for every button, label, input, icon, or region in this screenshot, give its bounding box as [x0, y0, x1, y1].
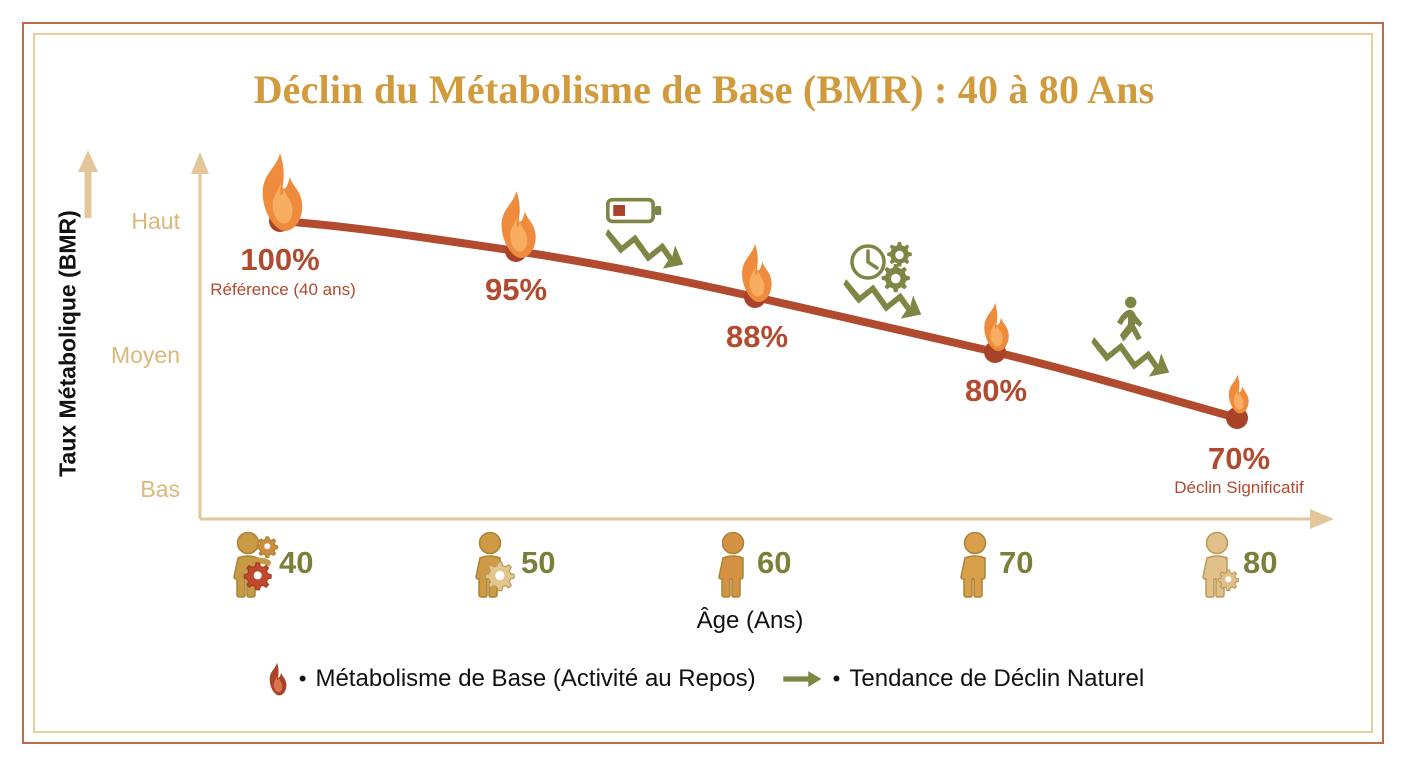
person-gears-icon-40: [234, 533, 278, 598]
legend-bullet-1: •: [299, 666, 307, 692]
person-gear-icon-50: [476, 533, 514, 598]
age-label-40: 40: [279, 545, 313, 581]
annotation-clock-decline: [843, 242, 921, 319]
flame-icon-40: [263, 153, 303, 231]
legend-item-metabolism[interactable]: • Métabolisme de Base (Activité au Repos…: [264, 662, 756, 696]
legend-label-decline: Tendance de Déclin Naturel: [849, 665, 1144, 693]
person-gear-icon-80: [1203, 533, 1239, 598]
walking-person-icon: [1117, 297, 1142, 342]
person-icon-70: [961, 533, 986, 598]
infographic-canvas: Déclin du Métabolisme de Base (BMR) : 40…: [0, 0, 1408, 768]
decline-arrow-icon-1: [605, 229, 683, 269]
bmr-decline-chart: [0, 0, 1408, 768]
low-battery-icon: [608, 200, 661, 222]
age-label-80: 80: [1243, 545, 1277, 581]
value-label-80: 70%: [1208, 441, 1270, 477]
age-label-60: 60: [757, 545, 791, 581]
flame-icon-legend: [264, 662, 290, 696]
person-icon-60: [719, 533, 744, 598]
value-label-50: 95%: [485, 272, 547, 308]
legend-bullet-2: •: [833, 666, 841, 692]
y-tick-bas: Bas: [60, 476, 180, 503]
annotation-walking-decline: [1091, 297, 1169, 377]
value-sublabel-80: Déclin Significatif: [1174, 478, 1303, 498]
chart-legend: • Métabolisme de Base (Activité au Repos…: [0, 662, 1408, 696]
y-tick-haut: Haut: [60, 208, 180, 235]
x-axis-title: Âge (Ans): [560, 607, 940, 635]
legend-label-metabolism: Métabolisme de Base (Activité au Repos): [315, 665, 755, 693]
age-label-70: 70: [999, 545, 1033, 581]
value-label-70: 80%: [965, 373, 1027, 409]
decline-arrow-icon-3: [1091, 337, 1169, 377]
decline-arrow-icon-legend: [782, 668, 824, 690]
decline-arrow-icon-2: [843, 279, 921, 319]
value-label-60: 88%: [726, 319, 788, 355]
clock-gears-icon: [852, 242, 912, 292]
value-sublabel-40: Référence (40 ans): [210, 280, 356, 300]
x-axis: [200, 509, 1334, 529]
y-axis: [191, 152, 209, 519]
age-label-50: 50: [521, 545, 555, 581]
y-tick-moyen: Moyen: [60, 342, 180, 369]
value-label-40: 100%: [240, 242, 319, 278]
flame-icon-80: [1229, 375, 1249, 414]
legend-item-decline[interactable]: • Tendance de Déclin Naturel: [782, 665, 1145, 693]
annotation-battery-decline: [605, 200, 683, 269]
